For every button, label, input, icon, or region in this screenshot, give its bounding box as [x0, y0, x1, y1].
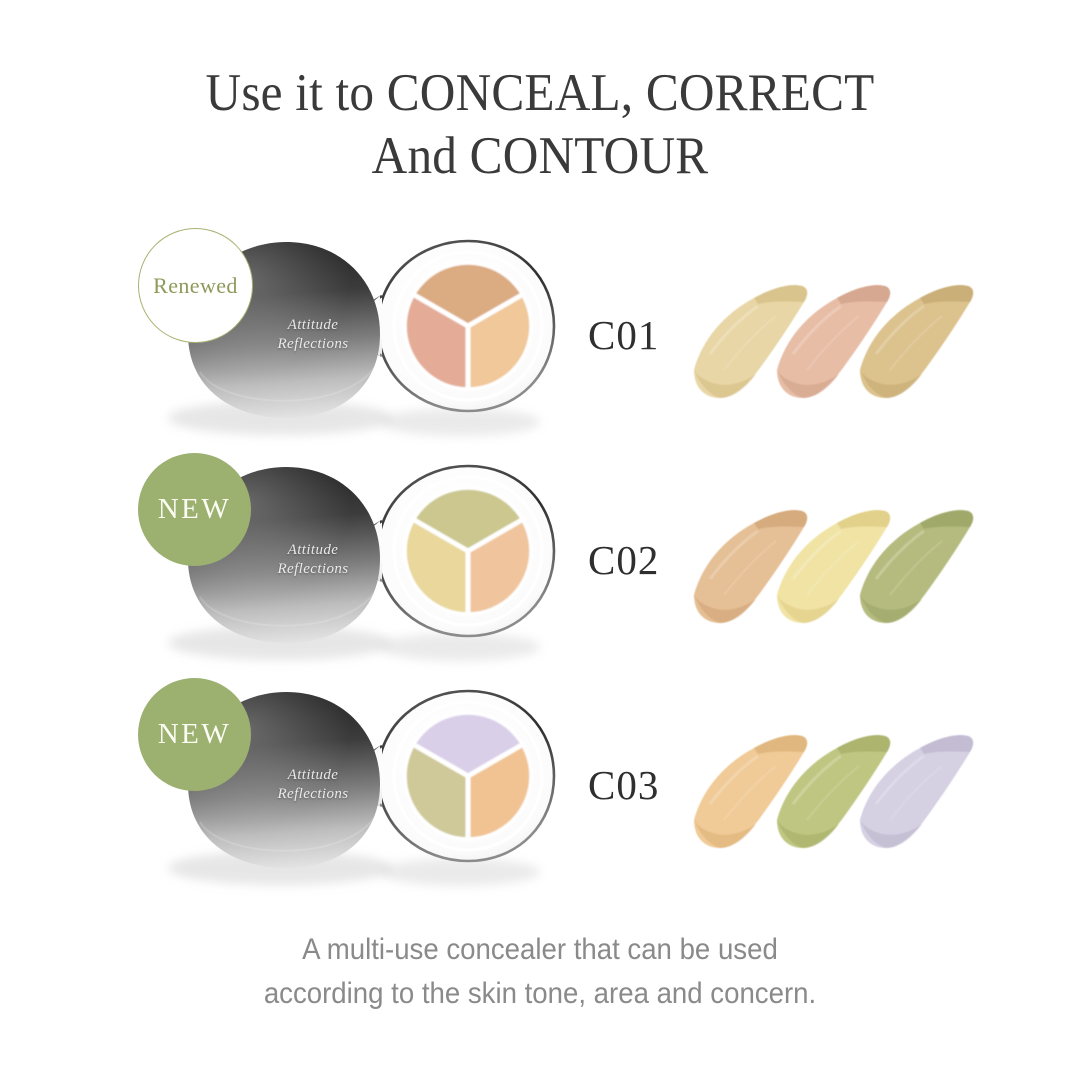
product-compact[interactable]: AttitudeReflectionsRenewed	[130, 222, 590, 447]
shade-code-label: C01	[588, 222, 659, 447]
product-compact[interactable]: AttitudeReflectionsNEW	[130, 672, 590, 897]
brand-line-2: Reflections	[248, 785, 378, 804]
headline-line-1: Use it to CONCEAL, CORRECT	[38, 62, 1042, 125]
brand-logo: AttitudeReflections	[248, 316, 378, 354]
swatch-group	[660, 672, 960, 897]
renewed-badge: Renewed	[138, 228, 253, 343]
product-infographic: Use it to CONCEAL, CORRECT And CONTOUR	[0, 0, 1080, 1080]
headline-line-2: And CONTOUR	[38, 125, 1042, 188]
page-title: Use it to CONCEAL, CORRECT And CONTOUR	[38, 62, 1042, 187]
brand-logo: AttitudeReflections	[248, 541, 378, 579]
swatch-group	[660, 447, 960, 672]
caption-line-1: A multi-use concealer that can be used	[43, 928, 1037, 972]
new-badge: NEW	[138, 678, 251, 791]
brand-line-1: Attitude	[248, 766, 378, 785]
shade-row: AttitudeReflectionsRenewedC01	[0, 222, 1080, 447]
shade-code-label: C02	[588, 447, 659, 672]
shade-row: AttitudeReflectionsNEWC02	[0, 447, 1080, 672]
brand-line-1: Attitude	[248, 541, 378, 560]
brand-line-2: Reflections	[248, 560, 378, 579]
caption-line-2: according to the skin tone, area and con…	[43, 972, 1037, 1016]
shade-code-label: C03	[588, 672, 659, 897]
swatch-group	[660, 222, 960, 447]
new-badge: NEW	[138, 453, 251, 566]
brand-line-1: Attitude	[248, 316, 378, 335]
product-description: A multi-use concealer that can be used a…	[43, 928, 1037, 1015]
product-compact[interactable]: AttitudeReflectionsNEW	[130, 447, 590, 672]
brand-line-2: Reflections	[248, 335, 378, 354]
brand-logo: AttitudeReflections	[248, 766, 378, 804]
shade-row: AttitudeReflectionsNEWC03	[0, 672, 1080, 897]
